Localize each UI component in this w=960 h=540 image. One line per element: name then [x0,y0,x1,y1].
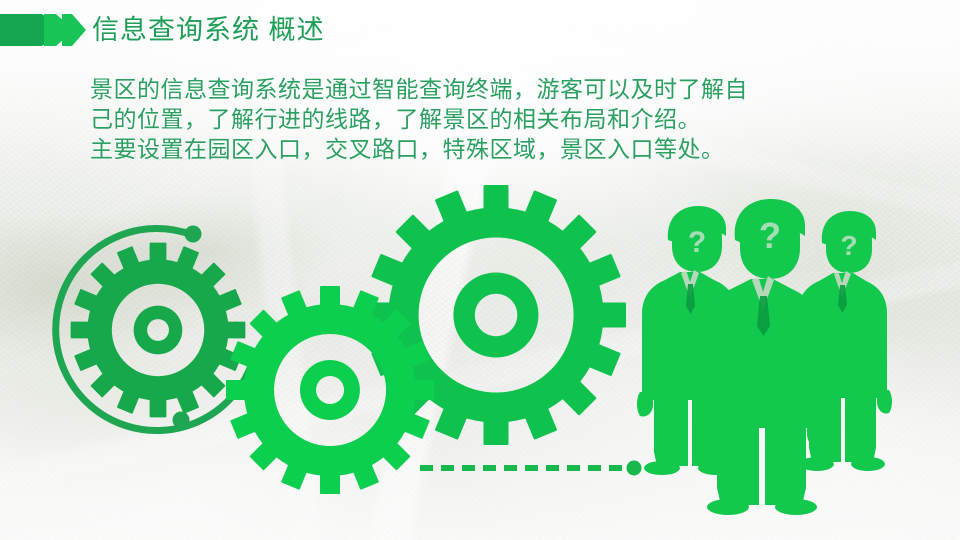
gear-small-left [71,243,246,418]
body-line-1: 景区的信息查询系统是通过智能查询终端，游客可以及时了解自 [90,74,890,104]
page-title: 信息查询系统 概述 [92,17,325,44]
double-chevron-arrow-icon [0,8,86,52]
slide-header: 信息查询系统 概述 [0,8,325,52]
body-copy-block: 景区的信息查询系统是通过智能查询终端，游客可以及时了解自 己的位置，了解行进的线… [90,74,890,164]
body-line-3: 主要设置在园区入口，交叉路口，特殊区域，景区入口等处。 [90,134,890,164]
dashed-connector-line [420,461,642,476]
arc-dot-end [173,412,190,429]
dashed-line-end-dot [627,461,642,476]
question-mark-icon-right: ? [840,230,857,261]
gear-small-left-group [56,226,253,431]
question-mark-icon-left: ? [688,226,706,259]
arc-dot-start [185,226,202,243]
question-mark-icon-center: ? [759,215,781,256]
gear-medium-center [226,286,434,494]
body-line-2: 己的位置，了解行进的线路，了解景区的相关布局和介绍。 [90,104,890,134]
slide-canvas: ? ? [0,0,960,540]
